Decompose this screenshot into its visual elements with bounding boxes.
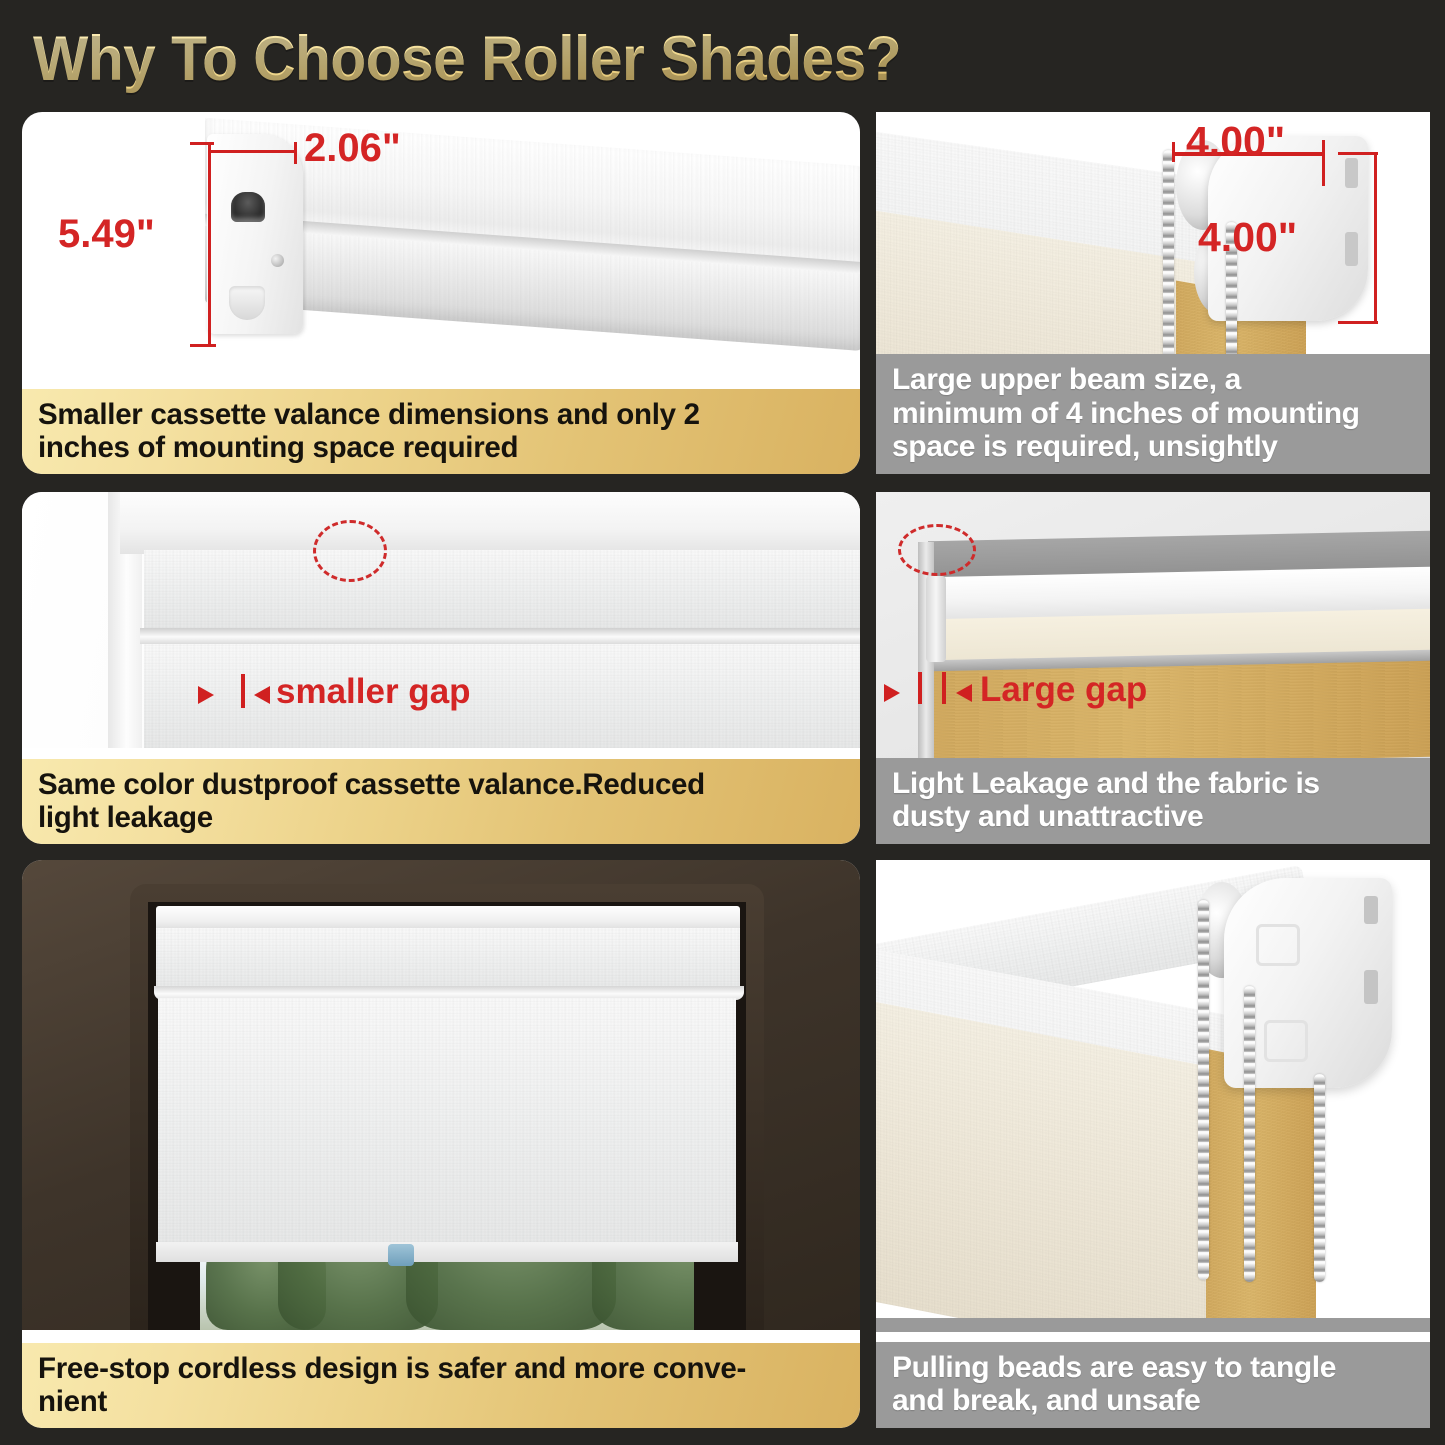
- gap-highlight-ellipse: [313, 520, 387, 582]
- window-frame-top: [120, 492, 860, 554]
- caption-line-1: Light Leakage and the fabric is: [892, 767, 1414, 801]
- gap-arrow-right: [956, 684, 972, 702]
- panel-cassette-dimensions: 2.06" 5.49" Smaller cassette valance dim…: [22, 112, 860, 474]
- dimension-label-width: 2.06": [304, 126, 401, 171]
- product-photo-large-beam: 4.00" 4.00": [876, 112, 1430, 364]
- window-frame: [130, 884, 764, 1330]
- caption-line-2: light leakage: [38, 801, 844, 834]
- cassette-valance-face: [144, 550, 860, 628]
- cap-screw-icon: [271, 254, 284, 267]
- bead-chain-left: [1163, 150, 1174, 362]
- panel-4-caption: Light Leakage and the fabric is dusty an…: [876, 758, 1430, 844]
- panel-pulling-beads: Pulling beads are easy to tangle and bre…: [876, 860, 1430, 1428]
- panel-1-caption: Smaller cassette valance dimensions and …: [22, 389, 860, 474]
- gap-callout-label: Large gap: [980, 670, 1147, 710]
- caption-line-1: Pulling beads are easy to tangle: [892, 1351, 1414, 1385]
- gap-edge-tick-left: [918, 672, 922, 704]
- gap-arrow-left: [198, 686, 214, 704]
- dim-tick-top: [190, 142, 214, 145]
- cap-knob-icon: [229, 286, 265, 320]
- gap-edge-tick: [241, 674, 245, 708]
- product-photo-smaller-gap: smaller gap: [22, 492, 860, 748]
- product-photo-cassette-valance: 2.06" 5.49": [22, 112, 860, 378]
- caption-line-2: inches of mounting space required: [38, 431, 844, 464]
- dim-line-height: [1374, 152, 1377, 324]
- caption-line-1: Same color dustproof cassette valance.Re…: [38, 768, 844, 801]
- valance-bottom-rail: [140, 628, 860, 644]
- caption-line-1: Free-stop cordless design is safer and m…: [38, 1352, 844, 1385]
- caption-line-2: minimum of 4 inches of mounting: [892, 397, 1414, 431]
- tree-foliage: [406, 1262, 616, 1330]
- panel-6-caption: Pulling beads are easy to tangle and bre…: [876, 1342, 1430, 1428]
- bracket-notch-top: [1345, 158, 1358, 188]
- product-photo-large-gap: Large gap: [876, 492, 1430, 762]
- product-photo-window-scene: [22, 860, 860, 1330]
- product-photo-bead-chain: [876, 860, 1430, 1332]
- dimension-label-height: 4.00": [1198, 214, 1297, 261]
- window-opening: [148, 902, 746, 1330]
- dimension-label-width: 4.00": [1186, 118, 1285, 165]
- gap-arrow-right: [254, 686, 270, 704]
- bracket-clip: [926, 576, 946, 662]
- dim-line-width: [210, 150, 296, 153]
- gap-arrow-left: [884, 684, 900, 702]
- photo-footer-band: [876, 1318, 1430, 1332]
- tan-fabric-sheet: [1206, 1049, 1316, 1332]
- window-glass: [200, 1262, 694, 1330]
- panel-5-caption: Free-stop cordless design is safer and m…: [22, 1343, 860, 1428]
- shade-fabric: [158, 998, 736, 1248]
- panel-dustproof-valance: smaller gap Same color dustproof cassett…: [22, 492, 860, 844]
- dim-line-height: [208, 142, 211, 347]
- cassette-valance: [156, 928, 740, 994]
- caption-line-2: nient: [38, 1385, 844, 1418]
- shade-fabric: [144, 644, 860, 748]
- dim-tick-top: [1338, 152, 1378, 155]
- bead-chain-right: [1314, 1074, 1325, 1282]
- tree-foliage: [592, 1262, 694, 1330]
- panel-cordless-design: Free-stop cordless design is safer and m…: [22, 860, 860, 1428]
- dim-tick-right: [1322, 140, 1325, 186]
- page-header: Why To Choose Roller Shades?: [33, 20, 1413, 98]
- dim-tick-bottom: [190, 344, 216, 347]
- bracket-emboss-bottom: [1264, 1020, 1308, 1062]
- valance-end-cap: [207, 134, 303, 334]
- gap-edge-tick-right: [942, 672, 946, 704]
- bottom-rail: [156, 1242, 738, 1262]
- caption-line-2: and break, and unsafe: [892, 1384, 1414, 1418]
- bracket-slot-top: [1364, 896, 1378, 924]
- pull-handle: [388, 1244, 414, 1266]
- panel-large-upper-beam: 4.00" 4.00" Large upper beam size, a min…: [876, 112, 1430, 474]
- gap-highlight-ellipse: [898, 524, 976, 576]
- panel-2-caption: Large upper beam size, a minimum of 4 in…: [876, 354, 1430, 474]
- page-title: Why To Choose Roller Shades?: [33, 23, 901, 95]
- bracket-notch-bottom: [1345, 232, 1358, 266]
- caption-line-1: Smaller cassette valance dimensions and …: [38, 398, 844, 431]
- caption-line-1: Large upper beam size, a: [892, 363, 1414, 397]
- dim-tick-right: [294, 142, 297, 164]
- bracket-emboss-top: [1256, 924, 1300, 966]
- bead-chain-left: [1198, 900, 1209, 1280]
- bracket-slot-bottom: [1364, 970, 1378, 1004]
- caption-line-3: space is required, unsightly: [892, 430, 1414, 464]
- gap-callout-label: smaller gap: [276, 672, 471, 712]
- dimension-label-height: 5.49": [58, 212, 155, 257]
- panel-3-caption: Same color dustproof cassette valance.Re…: [22, 759, 860, 844]
- cap-slot-icon: [231, 192, 265, 222]
- caption-line-2: dusty and unattractive: [892, 800, 1414, 834]
- dim-tick-bottom: [1338, 321, 1378, 324]
- bead-chain-middle: [1244, 986, 1255, 1282]
- panel-light-leakage: Large gap Light Leakage and the fabric i…: [876, 492, 1430, 844]
